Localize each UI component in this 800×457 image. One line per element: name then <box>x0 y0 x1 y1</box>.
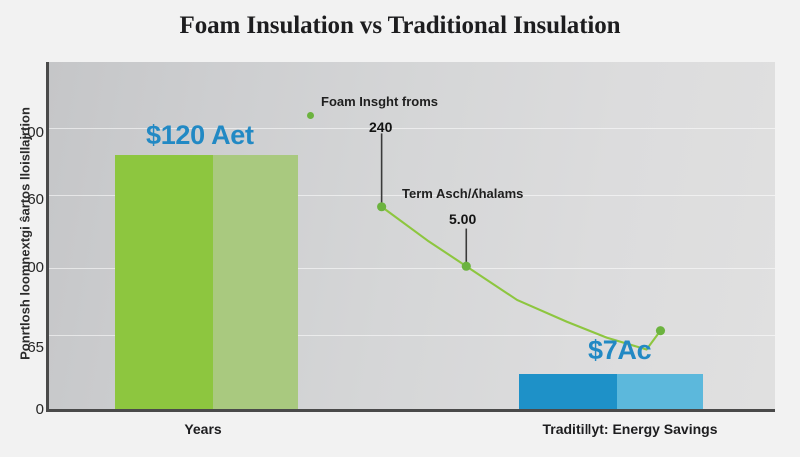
line-marker-3[interactable] <box>656 326 665 335</box>
value-label-foam: $120 Aet <box>146 120 254 151</box>
annotation-value-500: 5.00 <box>449 211 476 227</box>
legend-marker-icon <box>307 112 314 119</box>
bar-traditional-insulation[interactable] <box>519 374 703 409</box>
bar-traditional-secondary-segment <box>617 374 703 409</box>
bar-foam-secondary-segment <box>213 155 298 409</box>
annotation-value-240: 240 <box>369 119 392 135</box>
y-axis-tick-4: 0 <box>4 401 44 418</box>
chart-screenshot: Foam Insulation vs Traditional Insulatio… <box>0 0 800 457</box>
x-axis-label-years: Years <box>103 421 303 437</box>
x-axis-label-traditional: Traditi‖yt: Energy Savings <box>500 421 760 437</box>
annotation-label-foam-series: Foam Insght froms <box>321 94 438 109</box>
bar-foam-primary-segment <box>115 155 213 409</box>
plot-inner <box>49 62 775 409</box>
value-label-traditional: $7Ac <box>588 335 651 366</box>
plot-area <box>46 62 775 412</box>
line-marker-1[interactable] <box>377 202 386 211</box>
line-marker-2[interactable] <box>462 262 471 271</box>
page-title: Foam Insulation vs Traditional Insulatio… <box>0 12 800 40</box>
bar-traditional-primary-segment <box>519 374 617 409</box>
bar-foam-insulation[interactable] <box>115 155 298 409</box>
y-axis-title: Ponrtlosh loomnextgi ŝartos lloisllajrti… <box>18 69 33 399</box>
line-path-foam-savings-poly <box>382 207 661 350</box>
annotation-label-term-series: Term Asch/ʎhalams <box>402 186 523 201</box>
